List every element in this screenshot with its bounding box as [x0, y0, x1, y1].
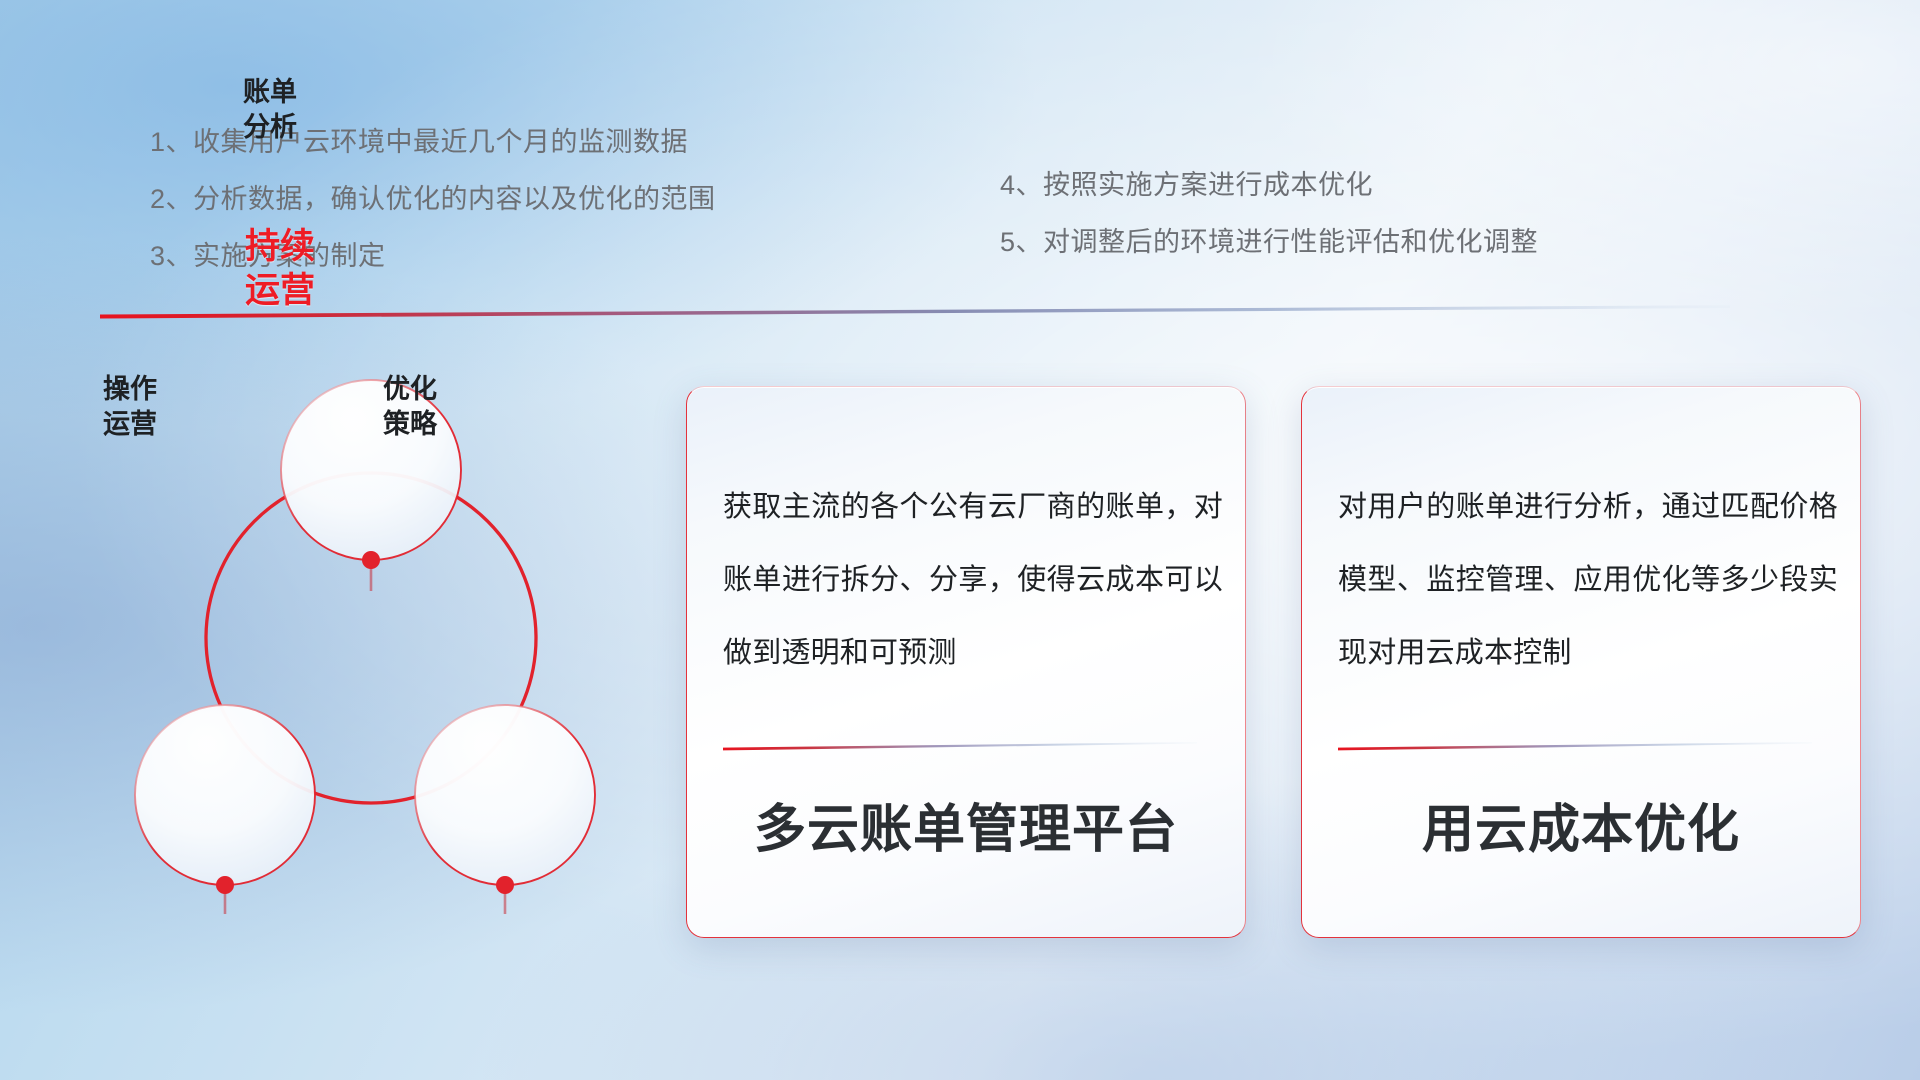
feature-card-multi-cloud-billing-platform[interactable]: 获取主流的各个公有云厂商的账单，对账单进行拆分、分享，使得云成本可以做到透明和可… — [686, 386, 1246, 938]
node-pin-top — [362, 551, 380, 591]
diagram-center-label: 持续 运营 — [195, 225, 365, 313]
diagram-node-label-operations: 操作 运营 — [45, 372, 215, 442]
node-bubble-right — [415, 705, 595, 885]
steps-right-column: 4、按照实施方案进行成本优化 5、对调整后的环境进行性能评估和优化调整 — [1000, 157, 1538, 271]
card-body-text: 对用户的账单进行分析，通过匹配价格模型、监控管理、应用优化等多少段实现对用云成本… — [1338, 471, 1838, 690]
step-item-2: 2、分析数据，确认优化的内容以及优化的范围 — [150, 171, 716, 228]
node-bubble-left — [135, 705, 315, 885]
slide-canvas: 1、收集用户云环境中最近几个月的监测数据 2、分析数据，确认优化的内容以及优化的… — [0, 0, 1920, 1080]
diagram-node-label-optimization-strategy: 优化 策略 — [325, 372, 495, 442]
card-body-text: 获取主流的各个公有云厂商的账单，对账单进行拆分、分享，使得云成本可以做到透明和可… — [723, 471, 1223, 690]
node-pin-right — [496, 876, 514, 914]
step-item-5: 5、对调整后的环境进行性能评估和优化调整 — [1000, 214, 1538, 271]
node-pin-left — [216, 876, 234, 914]
feature-card-cloud-cost-optimization[interactable]: 对用户的账单进行分析，通过匹配价格模型、监控管理、应用优化等多少段实现对用云成本… — [1301, 386, 1861, 938]
card-accent-rule — [723, 739, 1197, 751]
card-accent-rule — [1338, 739, 1812, 751]
card-title: 多云账单管理平台 — [687, 787, 1245, 862]
diagram-node-label-billing-analysis: 账单 分析 — [185, 75, 355, 145]
card-title: 用云成本优化 — [1302, 787, 1860, 862]
step-item-4: 4、按照实施方案进行成本优化 — [1000, 157, 1538, 214]
